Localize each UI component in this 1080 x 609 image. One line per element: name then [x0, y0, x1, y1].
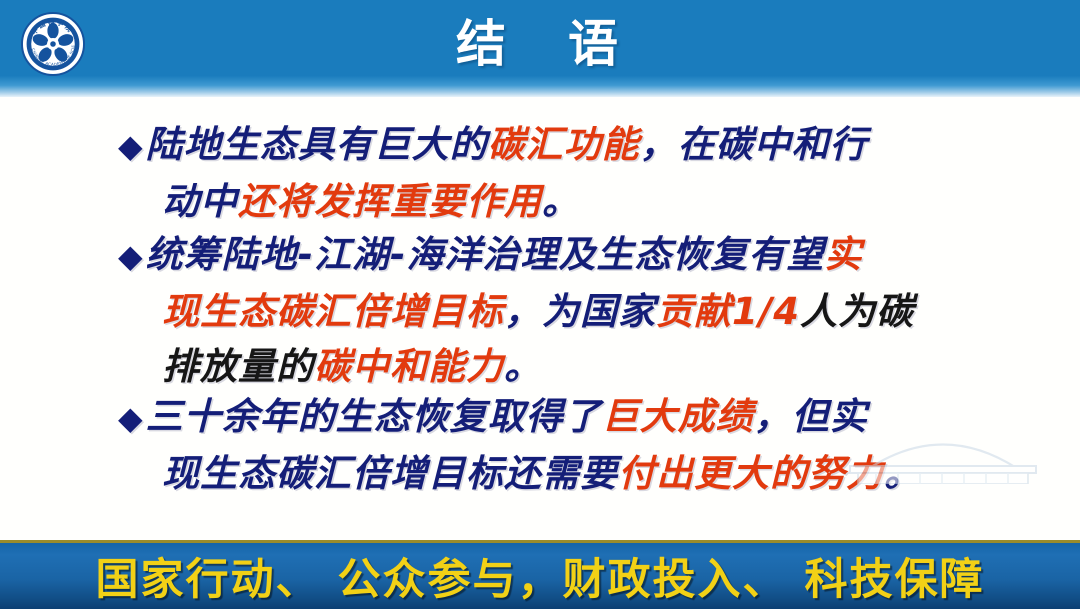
slide-title: 结 语 — [0, 10, 1080, 78]
text-run-black: 人为碳 — [800, 290, 914, 333]
bullet-2-line-2: 现生态碳汇倍增目标，为国家贡献1/4人为碳 — [118, 284, 978, 339]
bullet-1-line-1: ◆陆地生态具有巨大的碳汇功能，在碳中和行 — [118, 117, 978, 174]
text-run-navy: 三十余年的生态恢复取得了 — [146, 395, 602, 438]
text-run-navy: 。 — [504, 345, 542, 388]
slide-header-band: 中国科学院 CHINESE ACADEMY OF SCIENCES 结 语 — [0, 0, 1080, 97]
text-run-navy: 现生态碳汇倍增目标还需要 — [162, 452, 618, 495]
bullet-2-line-1: ◆统筹陆地-江湖-海洋治理及生态恢复有望实 — [118, 227, 978, 284]
bullet-item-2: ◆统筹陆地-江湖-海洋治理及生态恢复有望实现生态碳汇倍增目标，为国家贡献1/4人… — [118, 227, 978, 394]
bullet-diamond-icon: ◆ — [118, 127, 144, 165]
text-run-red: 现生态碳汇倍增目标 — [162, 290, 504, 333]
text-run-red: 巨大成绩 — [602, 395, 754, 438]
slide-body: ◆陆地生态具有巨大的碳汇功能，在碳中和行动中还将发挥重要作用。 ◆统筹陆地-江湖… — [0, 97, 1080, 540]
text-run-red: 碳汇功能 — [488, 123, 640, 166]
text-run-navy: 陆地生态具有巨大的 — [146, 123, 488, 166]
bullet-diamond-icon: ◆ — [118, 237, 144, 275]
footer-slogan: 国家行动、 公众参与，财政投入、 科技保障 — [0, 543, 1080, 609]
text-run-red: 贡献1/4 — [656, 290, 800, 333]
presentation-slide: 中国科学院 CHINESE ACADEMY OF SCIENCES 结 语 ◆陆… — [0, 0, 1080, 609]
text-run-red: 碳中和能力 — [314, 345, 504, 388]
text-run-red: 还将发挥重要作用 — [238, 180, 542, 223]
government-building-outline-watermark-icon — [828, 422, 1058, 484]
bullet-diamond-icon: ◆ — [118, 399, 144, 437]
text-run-navy: 。 — [542, 180, 580, 223]
text-run-navy: ，为国家 — [504, 290, 656, 333]
bullet-item-1: ◆陆地生态具有巨大的碳汇功能，在碳中和行动中还将发挥重要作用。 — [118, 117, 978, 229]
text-run-navy: 统筹陆地-江湖-海洋治理及生态恢复有望 — [146, 233, 825, 276]
text-run-navy: 动中 — [162, 180, 238, 223]
text-run-navy: ，在碳中和行 — [640, 123, 868, 166]
text-run-black: 排放量的 — [162, 345, 314, 388]
bullet-2-line-3: 排放量的碳中和能力。 — [118, 339, 978, 394]
slide-footer-banner: 国家行动、 公众参与，财政投入、 科技保障 — [0, 540, 1080, 609]
bullet-1-line-2: 动中还将发挥重要作用。 — [118, 174, 978, 229]
text-run-red: 实 — [824, 233, 862, 276]
